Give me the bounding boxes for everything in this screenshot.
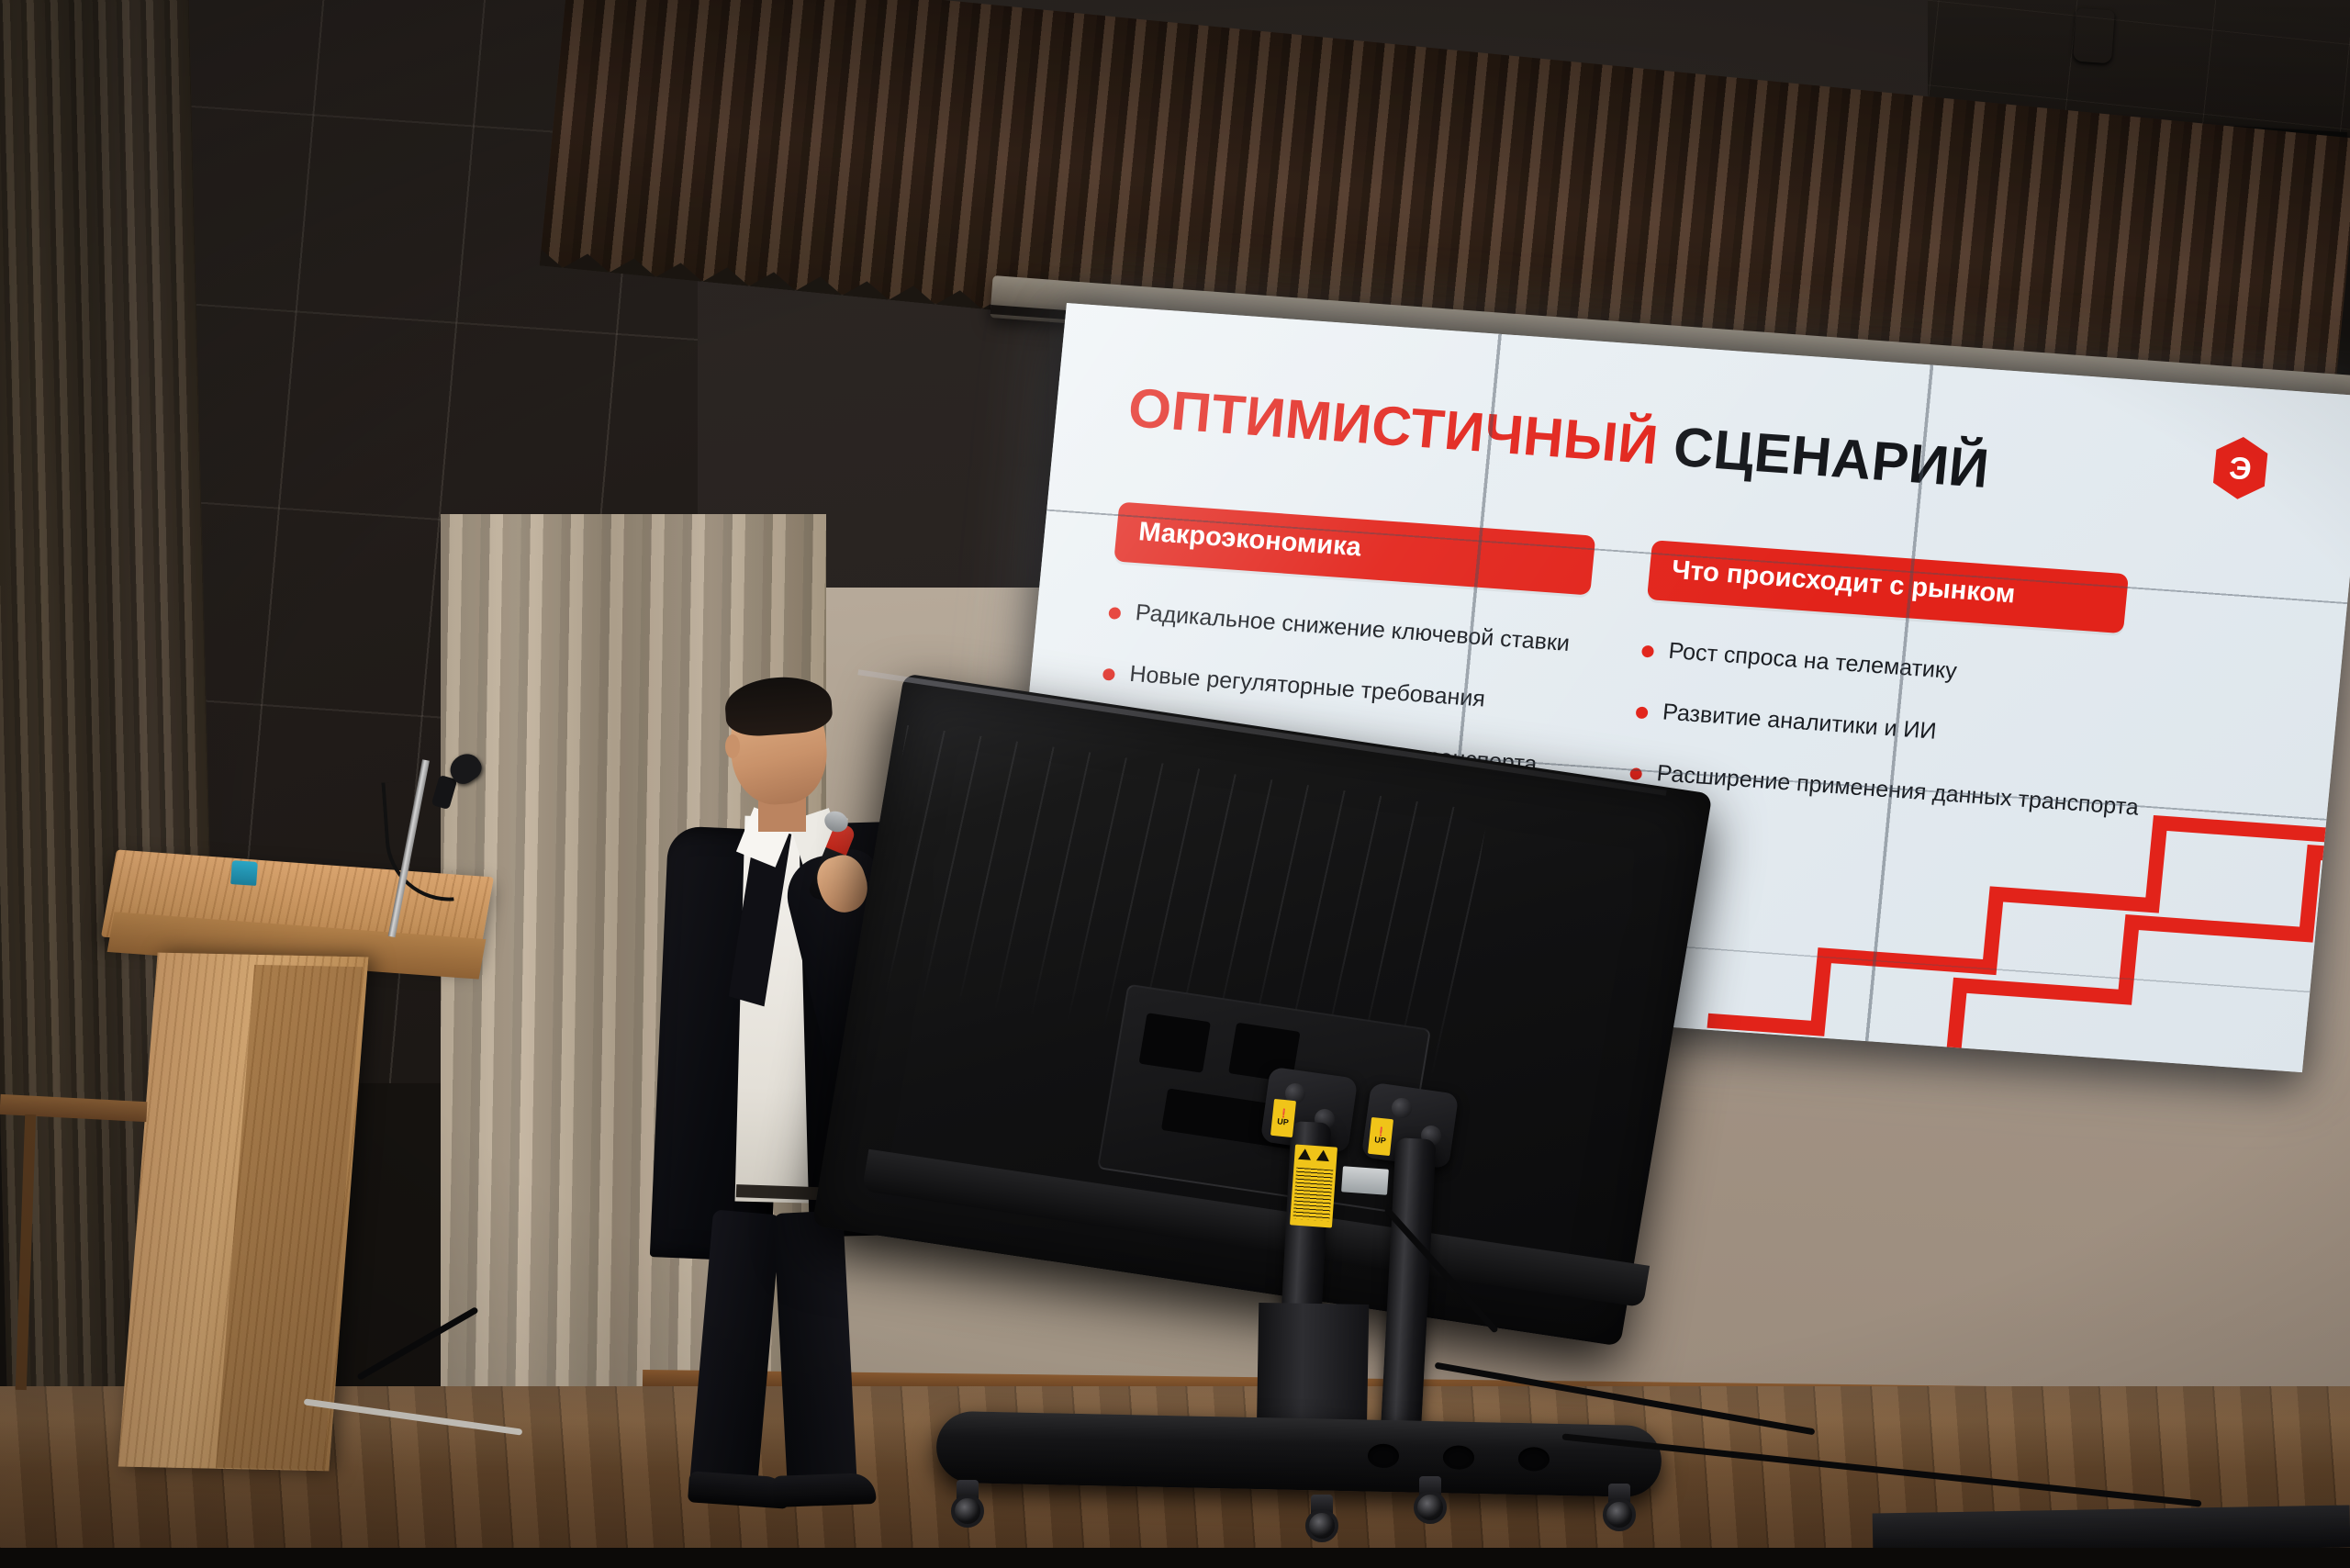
bullet-dot-icon: [1108, 607, 1121, 620]
caster-wheel: [1305, 1509, 1338, 1542]
presentation-photo-scene: ОПТИМИСТИЧНЫЙ СЦЕНАРИЙ Э Макроэкономика …: [0, 0, 2350, 1568]
list-item: Рост спроса на телематику: [1640, 636, 2120, 697]
base-cutout: [1518, 1447, 1550, 1472]
mount-bolt: [1392, 1098, 1412, 1118]
caster-wheel: [1603, 1498, 1636, 1531]
blue-bottle-cap: [230, 860, 258, 886]
base-cutout: [1443, 1445, 1475, 1470]
svg-text:Э: Э: [2228, 451, 2254, 487]
shoe-right: [772, 1473, 876, 1507]
slide-title-red: ОПТИМИСТИЧНЫЙ: [1125, 376, 1661, 476]
presenter-legs: [696, 1212, 870, 1506]
up-orientation-sticker: ❗ UP: [1270, 1099, 1296, 1137]
list-item: Новые регуляторные требования: [1102, 659, 1581, 720]
up-orientation-sticker: ❗ UP: [1368, 1117, 1393, 1156]
up-sticker-label: UP: [1374, 1136, 1386, 1145]
bullet-text: Развитие аналитики и ИИ: [1662, 699, 1938, 745]
warning-triangle-icon: [1316, 1149, 1330, 1161]
column-header-left: Макроэкономика: [1113, 502, 1595, 596]
cart-caster: [1410, 1476, 1450, 1524]
bullet-text: Радикальное снижение ключевой ставки: [1135, 599, 1572, 657]
trouser-leg-right: [773, 1210, 857, 1489]
cart-caster: [1599, 1484, 1639, 1531]
bullet-dot-icon: [1641, 645, 1654, 658]
red-growth-steps-graphic: [1706, 737, 2339, 1072]
column-header-right: Что происходит с рынком: [1647, 540, 2129, 633]
bullet-text: Новые регуляторные требования: [1128, 661, 1486, 712]
ear: [725, 734, 740, 758]
slide-title-black: СЦЕНАРИЙ: [1655, 415, 1992, 500]
bullet-text: Рост спроса на телематику: [1667, 638, 1958, 685]
display-rear-panel: [854, 730, 1671, 1290]
hair: [723, 674, 834, 738]
trouser-leg-left: [689, 1209, 781, 1489]
list-item: Радикальное снижение ключевой ставки: [1108, 598, 1587, 658]
cart-caster: [947, 1480, 988, 1528]
mount-cutout: [1138, 1013, 1210, 1073]
caster-wheel: [951, 1495, 984, 1528]
spec-sticker: [1341, 1166, 1389, 1194]
slide-title: ОПТИМИСТИЧНЫЙ СЦЕНАРИЙ: [1125, 375, 1992, 500]
caster-wheel: [1414, 1491, 1447, 1524]
warning-label: [1290, 1145, 1337, 1228]
base-cutout: [1368, 1444, 1400, 1469]
display-cart-base: [935, 1411, 1662, 1498]
up-sticker-label: UP: [1277, 1117, 1289, 1126]
cart-caster: [1302, 1495, 1342, 1542]
stage-spotlight: [2073, 8, 2115, 64]
warning-text-lines: [1292, 1168, 1333, 1222]
bullet-dot-icon: [1636, 706, 1649, 719]
warning-triangle-icon: [1298, 1148, 1312, 1160]
company-logo: Э: [2208, 433, 2273, 503]
bottom-edge: [0, 1548, 2350, 1568]
bullet-dot-icon: [1102, 668, 1115, 681]
